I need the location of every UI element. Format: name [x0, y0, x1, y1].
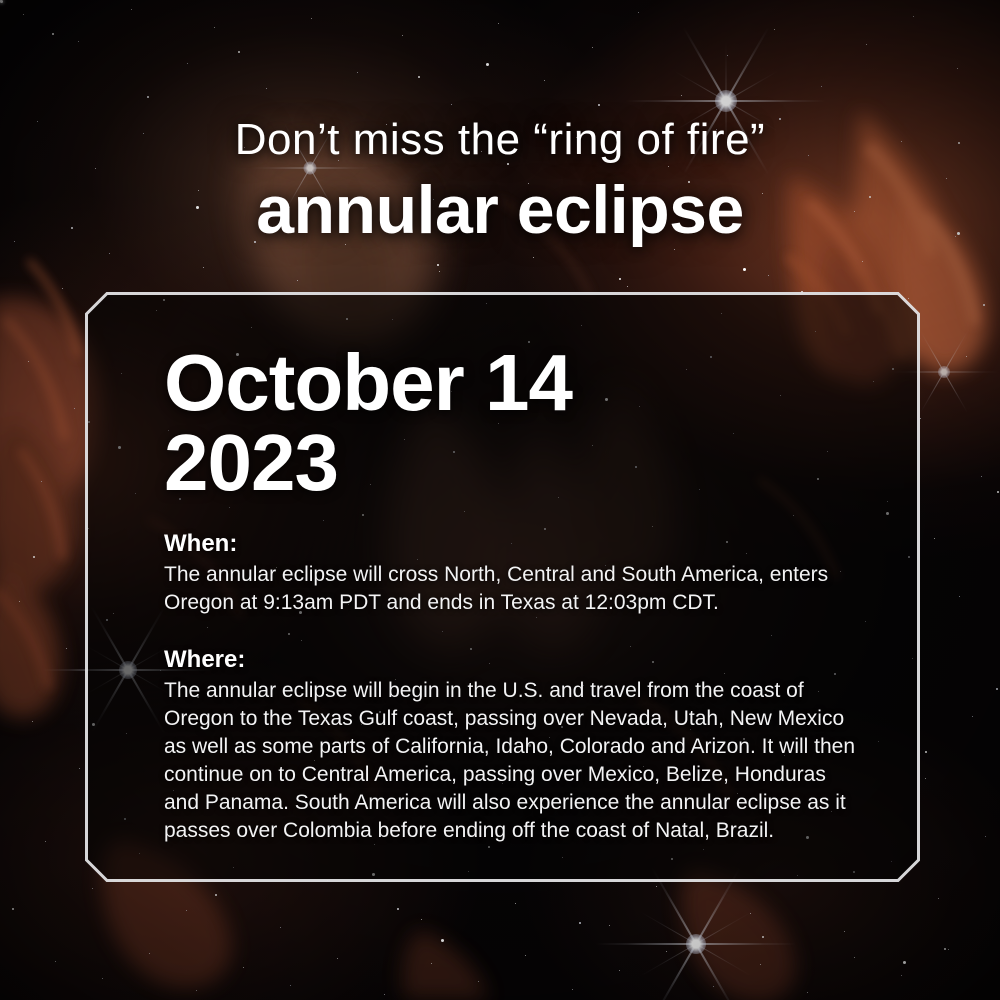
section-where: Where: The annular eclipse will begin in…	[164, 647, 874, 845]
section-where-heading: Where:	[164, 647, 874, 673]
date-line-1: October 14	[164, 344, 874, 422]
section-where-body: The annular eclipse will begin in the U.…	[164, 677, 864, 845]
info-panel: October 14 2023 When: The annular eclips…	[85, 292, 920, 882]
headline-block: Don’t miss the “ring of fire” annular ec…	[0, 118, 1000, 244]
section-when-heading: When:	[164, 531, 874, 557]
date-line-2: 2023	[164, 424, 874, 502]
panel-content: October 14 2023 When: The annular eclips…	[164, 344, 874, 858]
headline-kicker: Don’t miss the “ring of fire”	[0, 118, 1000, 162]
headline-title: annular eclipse	[0, 176, 1000, 244]
section-when-body: The annular eclipse will cross North, Ce…	[164, 561, 864, 617]
eclipse-poster: Don’t miss the “ring of fire” annular ec…	[0, 0, 1000, 1000]
section-when: When: The annular eclipse will cross Nor…	[164, 531, 874, 617]
